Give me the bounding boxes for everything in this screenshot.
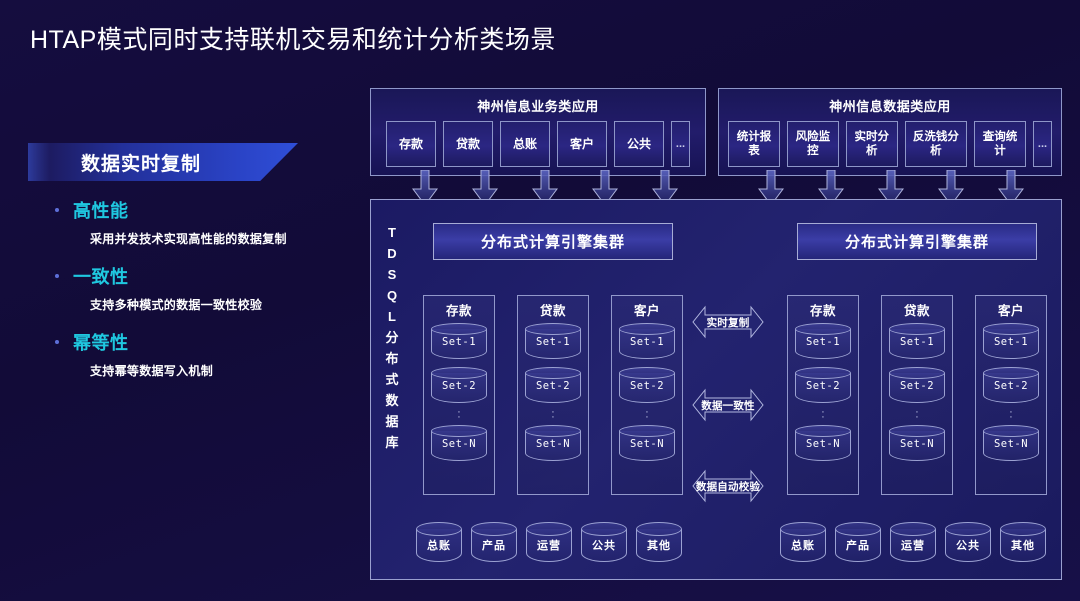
app-chip[interactable]: 风险监控	[787, 121, 839, 167]
bottom-cylinder-row-right: 总账 产品 运营 公共 其他	[780, 522, 1046, 566]
feature-item-1: 一致性 支持多种模式的数据一致性校验	[28, 263, 358, 313]
set-cylinder: Set-1	[431, 323, 487, 363]
set-label: Set-N	[983, 438, 1039, 450]
bottom-cylinder-label: 总账	[416, 537, 462, 553]
db-column-title: 存款	[788, 296, 858, 319]
tdsql-char: L	[379, 306, 405, 327]
sync-arrow-data-consistency: 数据一致性	[691, 388, 765, 422]
set-cylinder: Set-N	[431, 425, 487, 465]
set-label: Set-N	[619, 438, 675, 450]
set-cylinder: Set-1	[983, 323, 1039, 363]
tdsql-char: S	[379, 264, 405, 285]
app-chip[interactable]: 反洗钱分析	[905, 121, 967, 167]
app-chip[interactable]: 实时分析	[846, 121, 898, 167]
sync-arrow-label: 数据自动校验	[691, 469, 765, 503]
set-cylinder: Set-2	[889, 367, 945, 407]
tdsql-char: 布	[379, 348, 405, 369]
app-chip[interactable]: 存款	[386, 121, 436, 167]
tdsql-char: 据	[379, 411, 405, 432]
db-column-title: 客户	[612, 296, 682, 319]
db-column: 客户 Set-1 Set-2 ·· Set-N	[975, 295, 1047, 495]
set-cylinder: Set-1	[525, 323, 581, 363]
set-label: Set-2	[619, 380, 675, 392]
bullet-dot-icon	[55, 274, 59, 278]
tdsql-char: 库	[379, 432, 405, 453]
ribbon-glow	[28, 143, 50, 181]
bottom-cylinder: 产品	[471, 522, 517, 566]
set-cylinder: Set-N	[889, 425, 945, 465]
set-label: Set-2	[525, 380, 581, 392]
bottom-cylinder: 公共	[945, 522, 991, 566]
feature-title: 一致性	[73, 263, 129, 289]
bottom-cylinder: 运营	[890, 522, 936, 566]
feature-item-0: 高性能 采用并发技术实现高性能的数据复制	[28, 197, 358, 247]
sync-arrow-realtime-replication: 实时复制	[691, 305, 765, 339]
app-chip-more[interactable]: ...	[1033, 121, 1052, 167]
app-chip-more[interactable]: ...	[671, 121, 690, 167]
bottom-cylinder: 总账	[780, 522, 826, 566]
set-cylinder: Set-N	[983, 425, 1039, 465]
tdsql-char: 式	[379, 369, 405, 390]
set-cylinder: Set-2	[525, 367, 581, 407]
tdsql-char: T	[379, 222, 405, 243]
app-chip-list: 统计报表 风险监控 实时分析 反洗钱分析 查询统计 ...	[719, 115, 1061, 167]
app-chip[interactable]: 查询统计	[974, 121, 1026, 167]
set-cylinder: Set-2	[619, 367, 675, 407]
feature-description: 采用并发技术实现高性能的数据复制	[90, 230, 358, 247]
tdsql-char: 数	[379, 390, 405, 411]
bullet-dot-icon	[55, 208, 59, 212]
bottom-cylinder-label: 其他	[636, 537, 682, 553]
db-column-title: 客户	[976, 296, 1046, 319]
feature-title: 幂等性	[73, 329, 129, 355]
set-cylinder: Set-N	[619, 425, 675, 465]
set-label: Set-1	[795, 336, 851, 348]
set-label: Set-2	[431, 380, 487, 392]
app-chip-list: 存款 贷款 总账 客户 公共 ...	[371, 115, 705, 167]
bottom-cylinder: 运营	[526, 522, 572, 566]
set-label: Set-2	[795, 380, 851, 392]
bottom-cylinder: 产品	[835, 522, 881, 566]
app-group-title: 神州信息业务类应用	[371, 89, 705, 115]
db-column: 客户 Set-1 Set-2 ·· Set-N	[611, 295, 683, 495]
bottom-cylinder: 其他	[1000, 522, 1046, 566]
bottom-cylinder-row-left: 总账 产品 运营 公共 其他	[416, 522, 682, 566]
set-label: Set-2	[889, 380, 945, 392]
tdsql-char: D	[379, 243, 405, 264]
bottom-cylinder: 公共	[581, 522, 627, 566]
set-cylinder: Set-N	[795, 425, 851, 465]
tdsql-char: Q	[379, 285, 405, 306]
bottom-cylinder-label: 产品	[835, 537, 881, 553]
db-column-title: 贷款	[882, 296, 952, 319]
ellipsis-vertical-icon: ··	[518, 407, 588, 421]
compute-cluster-left: 分布式计算引擎集群	[433, 223, 673, 260]
bullet-dot-icon	[55, 340, 59, 344]
bottom-cylinder-label: 运营	[890, 537, 936, 553]
db-column: 贷款 Set-1 Set-2 ·· Set-N	[517, 295, 589, 495]
app-chip[interactable]: 统计报表	[728, 121, 780, 167]
bottom-cylinder-label: 总账	[780, 537, 826, 553]
feature-title: 高性能	[73, 197, 129, 223]
set-label: Set-N	[889, 438, 945, 450]
bottom-cylinder-label: 运营	[526, 537, 572, 553]
ellipsis-vertical-icon: ··	[612, 407, 682, 421]
feature-item-2: 幂等性 支持幂等数据写入机制	[28, 329, 358, 379]
tdsql-char: 分	[379, 327, 405, 348]
set-label: Set-1	[889, 336, 945, 348]
app-group-business: 神州信息业务类应用 存款 贷款 总账 客户 公共 ...	[370, 88, 706, 176]
set-cylinder: Set-2	[983, 367, 1039, 407]
db-column-title: 存款	[424, 296, 494, 319]
ellipsis-vertical-icon: ··	[976, 407, 1046, 421]
set-cylinder: Set-2	[795, 367, 851, 407]
bottom-cylinder-label: 公共	[945, 537, 991, 553]
set-label: Set-2	[983, 380, 1039, 392]
tdsql-panel: T D S Q L 分 布 式 数 据 库 分布式计算引擎集群 分布式计算引擎集…	[370, 199, 1062, 580]
set-cylinder: Set-1	[619, 323, 675, 363]
db-column-title: 贷款	[518, 296, 588, 319]
app-chip[interactable]: 总账	[500, 121, 550, 167]
bottom-cylinder-label: 公共	[581, 537, 627, 553]
section-ribbon: 数据实时复制	[28, 143, 298, 181]
set-label: Set-N	[431, 438, 487, 450]
bottom-cylinder: 总账	[416, 522, 462, 566]
ellipsis-vertical-icon: ··	[882, 407, 952, 421]
sync-arrow-label: 数据一致性	[691, 388, 765, 422]
feature-heading: 高性能	[28, 197, 358, 223]
set-cylinder: Set-1	[795, 323, 851, 363]
sync-arrow-auto-verification: 数据自动校验	[691, 469, 765, 503]
page-title: HTAP模式同时支持联机交易和统计分析类场景	[30, 20, 556, 56]
db-column: 存款 Set-1 Set-2 ·· Set-N	[787, 295, 859, 495]
feature-heading: 幂等性	[28, 329, 358, 355]
tdsql-vertical-label: T D S Q L 分 布 式 数 据 库	[379, 222, 405, 453]
feature-heading: 一致性	[28, 263, 358, 289]
set-label: Set-1	[431, 336, 487, 348]
set-label: Set-N	[795, 438, 851, 450]
bottom-cylinder-label: 产品	[471, 537, 517, 553]
db-column: 贷款 Set-1 Set-2 ·· Set-N	[881, 295, 953, 495]
left-feature-panel: 数据实时复制 高性能 采用并发技术实现高性能的数据复制 一致性 支持多种模式的数…	[28, 143, 358, 379]
ribbon-label: 数据实时复制	[81, 149, 201, 176]
ellipsis-vertical-icon: ··	[424, 407, 494, 421]
feature-description: 支持幂等数据写入机制	[90, 362, 358, 379]
architecture-diagram: 神州信息业务类应用 存款 贷款 总账 客户 公共 ... 神州信息数据类应用 统…	[370, 88, 1062, 580]
set-cylinder: Set-1	[889, 323, 945, 363]
set-label: Set-N	[525, 438, 581, 450]
app-group-data: 神州信息数据类应用 统计报表 风险监控 实时分析 反洗钱分析 查询统计 ...	[718, 88, 1062, 176]
sync-arrow-label: 实时复制	[691, 305, 765, 339]
set-label: Set-1	[983, 336, 1039, 348]
set-cylinder: Set-N	[525, 425, 581, 465]
set-label: Set-1	[619, 336, 675, 348]
compute-cluster-right: 分布式计算引擎集群	[797, 223, 1037, 260]
set-cylinder: Set-2	[431, 367, 487, 407]
bottom-cylinder-label: 其他	[1000, 537, 1046, 553]
app-chip[interactable]: 贷款	[443, 121, 493, 167]
feature-description: 支持多种模式的数据一致性校验	[90, 296, 358, 313]
db-column: 存款 Set-1 Set-2 ·· Set-N	[423, 295, 495, 495]
app-group-title: 神州信息数据类应用	[719, 89, 1061, 115]
bottom-cylinder: 其他	[636, 522, 682, 566]
app-chip[interactable]: 客户	[557, 121, 607, 167]
app-chip[interactable]: 公共	[614, 121, 664, 167]
ellipsis-vertical-icon: ··	[788, 407, 858, 421]
set-label: Set-1	[525, 336, 581, 348]
